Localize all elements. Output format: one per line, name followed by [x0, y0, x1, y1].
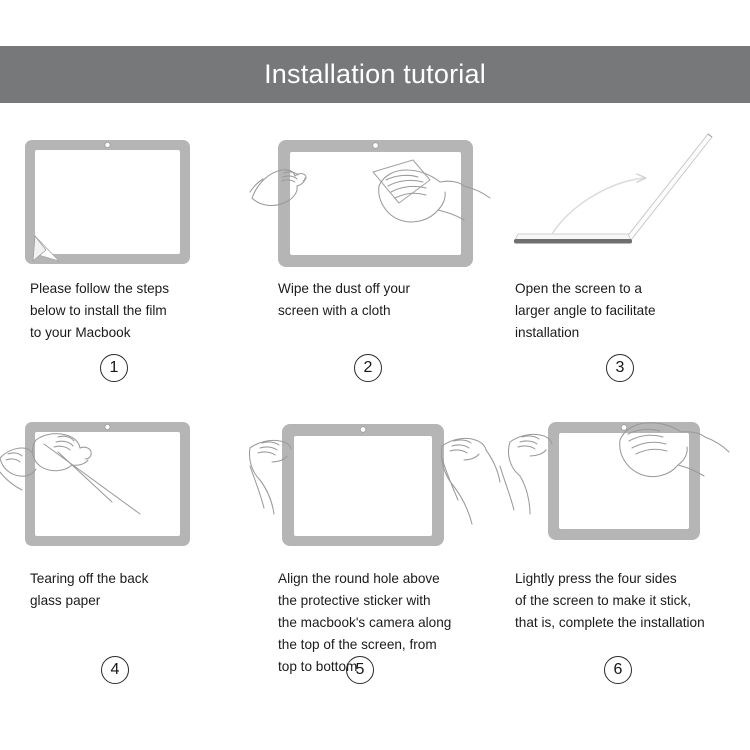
- header-banner: Installation tutorial: [0, 46, 750, 103]
- step-caption-3: Open the screen to a larger angle to fac…: [500, 278, 750, 344]
- step-number-badge-5: 5: [346, 656, 374, 684]
- step-number-badge-2: 2: [354, 354, 382, 382]
- step-card-1: Please follow the steps below to install…: [0, 120, 250, 410]
- page-title: Installation tutorial: [264, 61, 486, 88]
- steps-grid: Please follow the steps below to install…: [0, 120, 750, 740]
- step-caption-6: Lightly press the four sides of the scre…: [500, 568, 750, 634]
- step-number-label-6: 6: [614, 662, 623, 678]
- step-card-5: Align the round hole above the protectiv…: [250, 410, 500, 710]
- illustration-tablet-peeling-back-paper: [0, 410, 250, 560]
- step-number-badge-1: 1: [100, 354, 128, 382]
- step-number-label-3: 3: [616, 360, 625, 376]
- step-card-2: Wipe the dust off your screen with a clo…: [250, 120, 500, 410]
- step-number-label-5: 5: [356, 662, 365, 678]
- step-number-badge-4: 4: [101, 656, 129, 684]
- illustration-tablet-wiped-with-cloth: [250, 120, 500, 270]
- illustration-tablet-held-by-two-hands: [250, 410, 500, 560]
- step-caption-1: Please follow the steps below to install…: [0, 278, 250, 344]
- step-number-badge-6: 6: [604, 656, 632, 684]
- step-number-label-1: 1: [110, 360, 119, 376]
- step-caption-5: Align the round hole above the protectiv…: [250, 568, 500, 678]
- step-card-3: Open the screen to a larger angle to fac…: [500, 120, 750, 410]
- illustration-tablet-pressed-by-two-hands: [500, 410, 750, 560]
- illustration-laptop-opening-angle: [500, 120, 750, 270]
- illustration-tablet-with-peeling-corner: [0, 120, 250, 270]
- step-caption-2: Wipe the dust off your screen with a clo…: [250, 278, 500, 322]
- step-number-label-2: 2: [364, 360, 373, 376]
- step-number-badge-3: 3: [606, 354, 634, 382]
- step-caption-4: Tearing off the back glass paper: [0, 568, 250, 612]
- step-card-6: Lightly press the four sides of the scre…: [500, 410, 750, 710]
- step-card-4: Tearing off the back glass paper 4: [0, 410, 250, 710]
- step-number-label-4: 4: [111, 662, 120, 678]
